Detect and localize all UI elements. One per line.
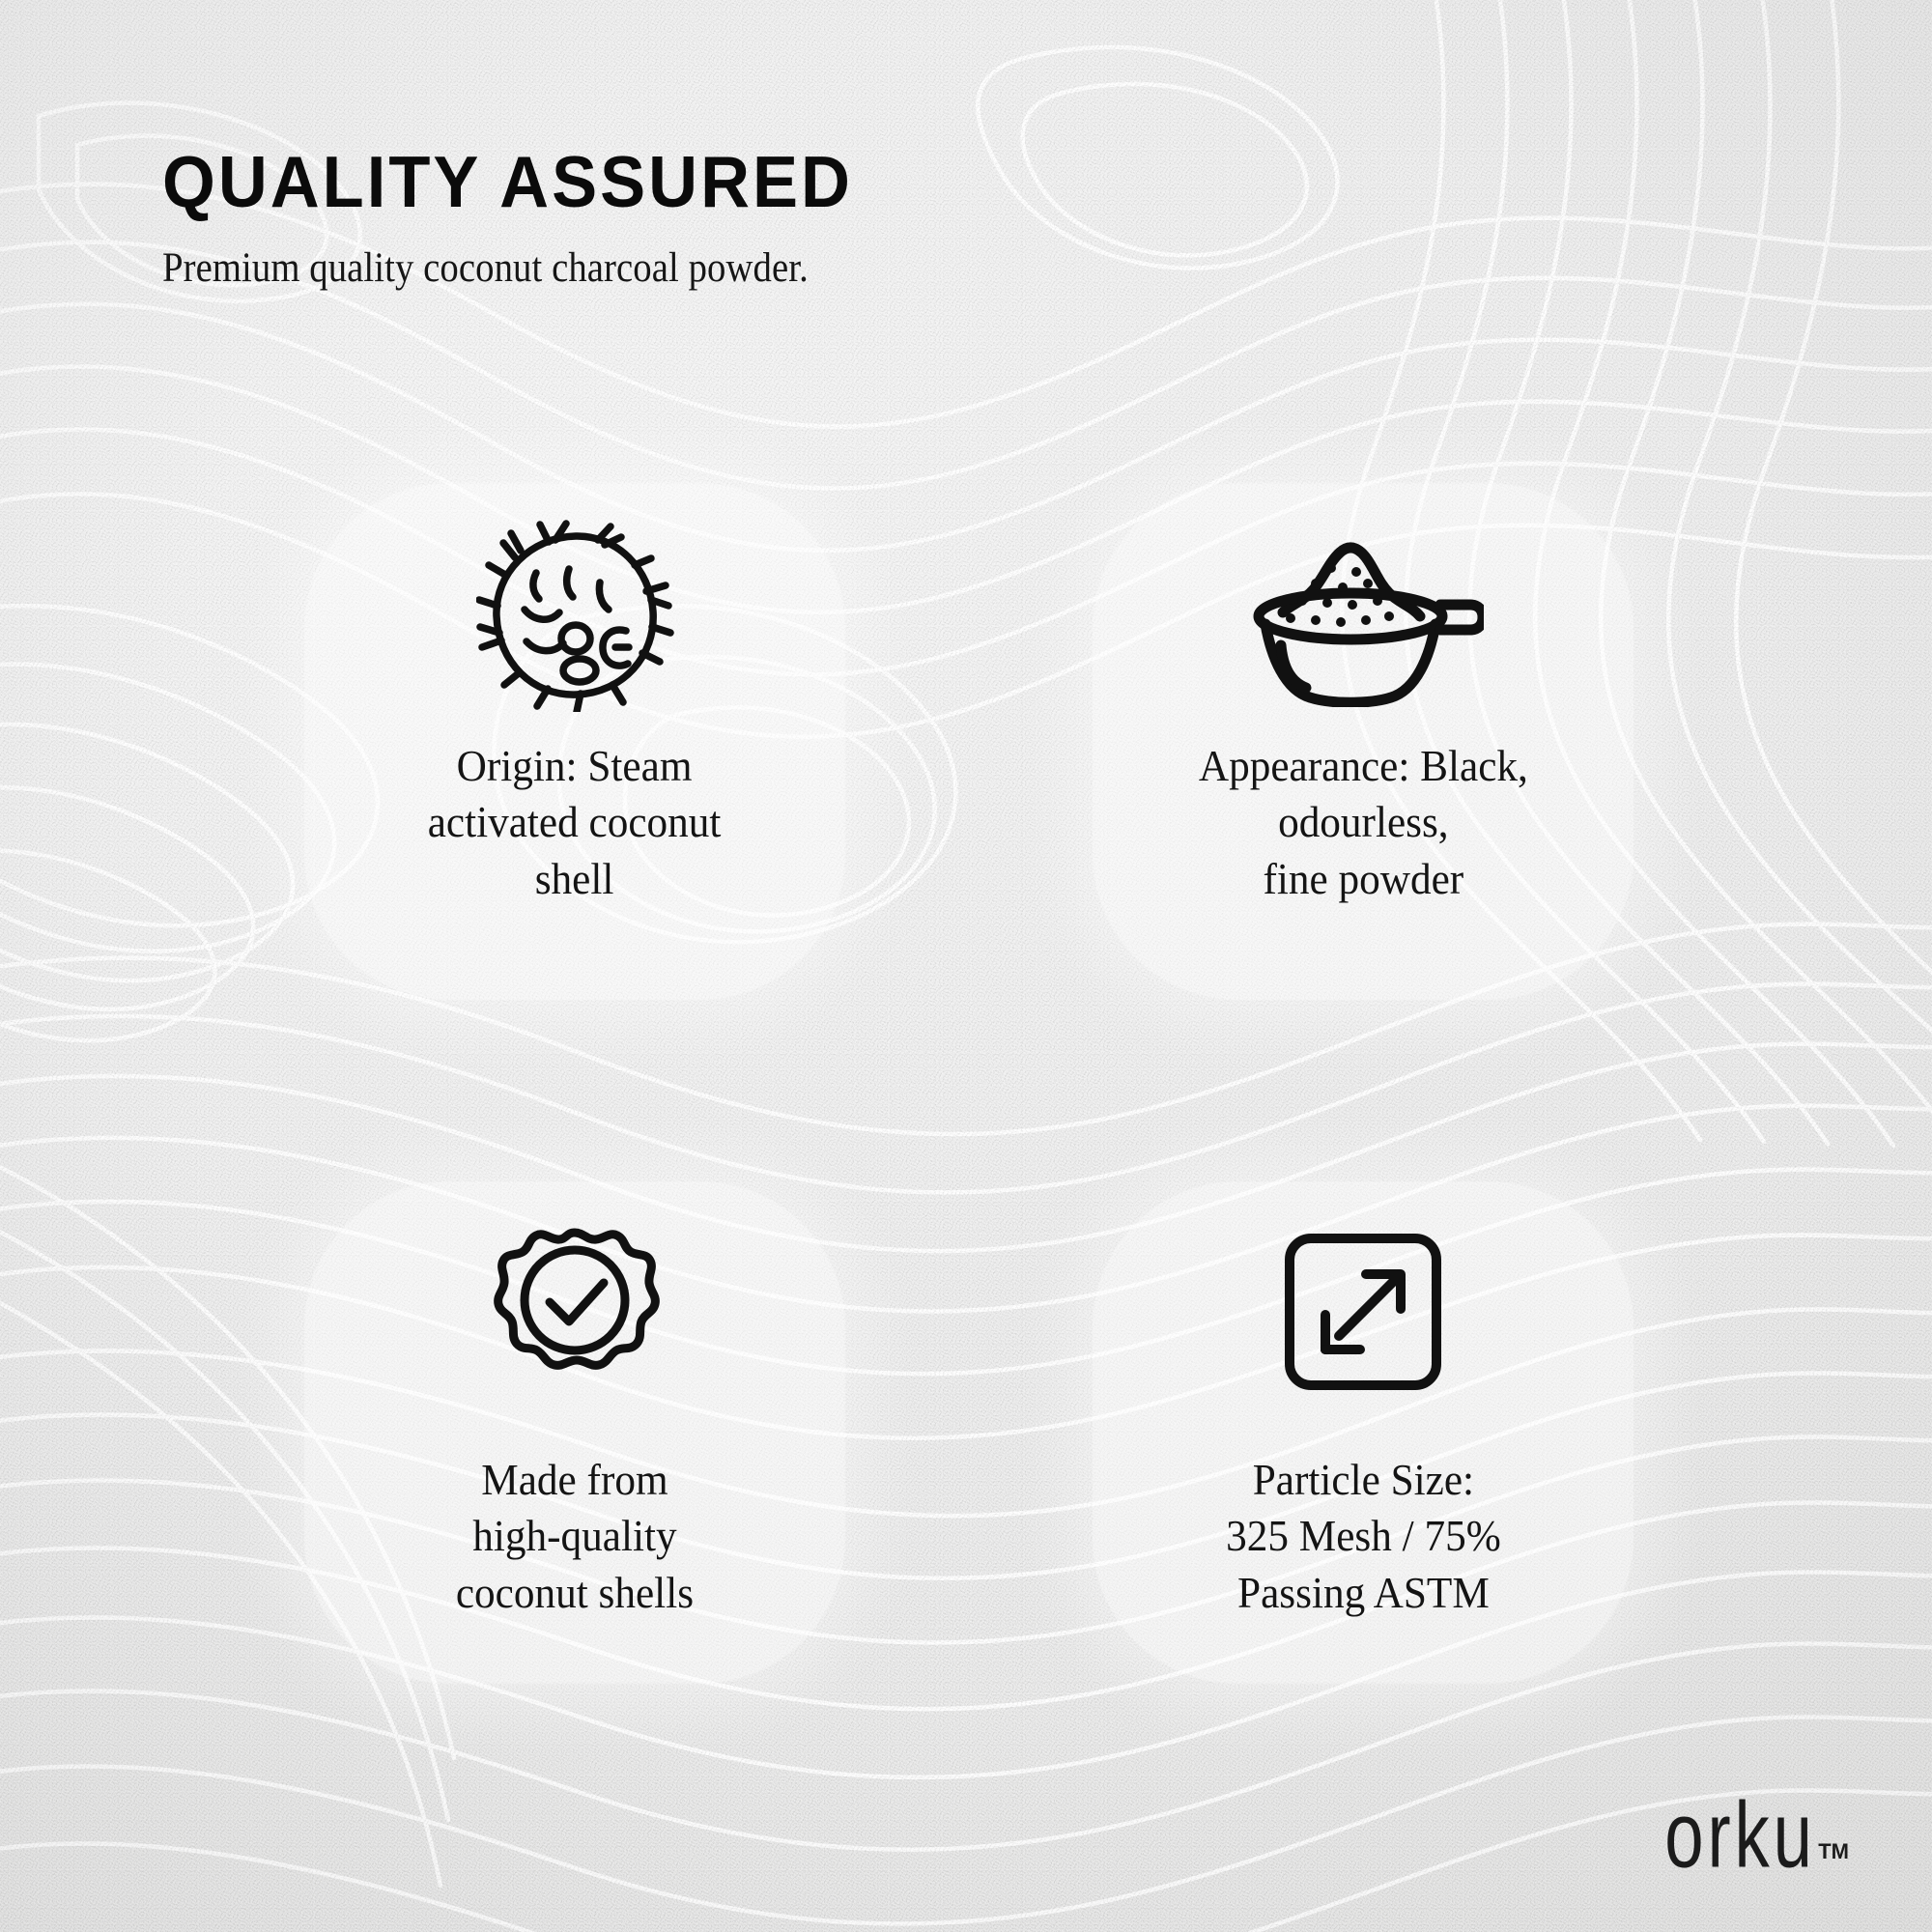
feature-card-text: Origin: Steam activated coconut shell xyxy=(428,738,722,907)
brand-logo: orku TM xyxy=(1622,1799,1849,1876)
feature-card-text: Made from high-quality coconut shells xyxy=(456,1452,694,1621)
coconut-icon xyxy=(476,514,674,717)
feature-card-text: Appearance: Black, odourless, fine powde… xyxy=(1199,738,1528,907)
feature-card-origin: Origin: Steam activated coconut shell xyxy=(244,454,905,1112)
page-subtitle: Premium quality coconut charcoal powder. xyxy=(162,244,1206,292)
expand-arrows-square-icon xyxy=(1283,1210,1443,1413)
feature-card-quality: Made from high-quality coconut shells xyxy=(244,1139,905,1797)
infographic-canvas: QUALITY ASSURED Premium quality coconut … xyxy=(0,0,1932,1932)
header: QUALITY ASSURED Premium quality coconut … xyxy=(162,145,1321,292)
logo-wordmark: orku xyxy=(1665,1796,1817,1876)
feature-card-particle-size: Particle Size: 325 Mesh / 75% Passing AS… xyxy=(1033,1139,1693,1797)
page-title: QUALITY ASSURED xyxy=(162,145,1252,219)
badge-check-icon xyxy=(490,1210,660,1413)
feature-card-text: Particle Size: 325 Mesh / 75% Passing AS… xyxy=(1226,1452,1501,1621)
feature-card-appearance: Appearance: Black, odourless, fine powde… xyxy=(1033,454,1693,1112)
feature-grid: Origin: Steam activated coconut shell xyxy=(244,454,1693,1797)
trademark-symbol: TM xyxy=(1818,1839,1849,1864)
measuring-scoop-powder-icon xyxy=(1242,514,1484,717)
